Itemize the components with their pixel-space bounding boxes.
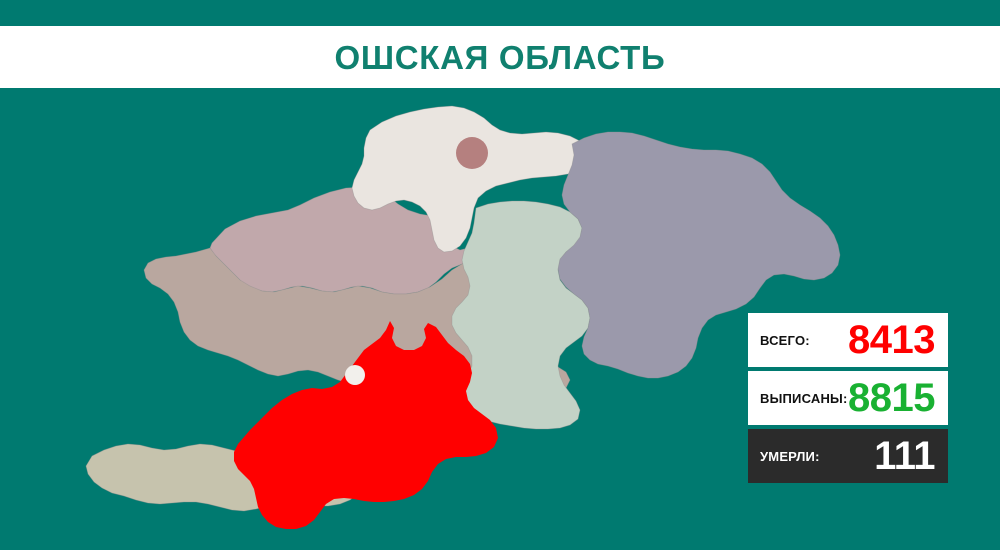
- stat-label-recovered: ВЫПИСАНЫ:: [760, 392, 848, 405]
- stat-row-recovered: ВЫПИСАНЫ: 8815: [748, 371, 948, 425]
- stat-value-total: 8413: [848, 320, 935, 360]
- stats-panel: ВСЕГО: 8413 ВЫПИСАНЫ: 8815 УМЕРЛИ: 111: [748, 313, 948, 483]
- stat-label-deaths: УМЕРЛИ:: [760, 450, 820, 463]
- page-title: ОШСКАЯ ОБЛАСТЬ: [335, 41, 666, 74]
- city-marker-icon: [456, 137, 488, 169]
- stat-value-recovered: 8815: [848, 378, 935, 418]
- stat-row-deaths: УМЕРЛИ: 111: [748, 429, 948, 483]
- stat-row-total: ВСЕГО: 8413: [748, 313, 948, 367]
- stat-label-total: ВСЕГО:: [760, 334, 810, 347]
- top-accent-strip: [0, 0, 1000, 26]
- stat-value-deaths: 111: [874, 436, 935, 476]
- capital-marker-icon: [345, 365, 365, 385]
- infographic-root: ОШСКАЯ ОБЛАСТЬ ВСЕГО: 8413: [0, 0, 1000, 550]
- map-region-central-sage[interactable]: [452, 201, 590, 429]
- title-band: ОШСКАЯ ОБЛАСТЬ: [0, 26, 1000, 88]
